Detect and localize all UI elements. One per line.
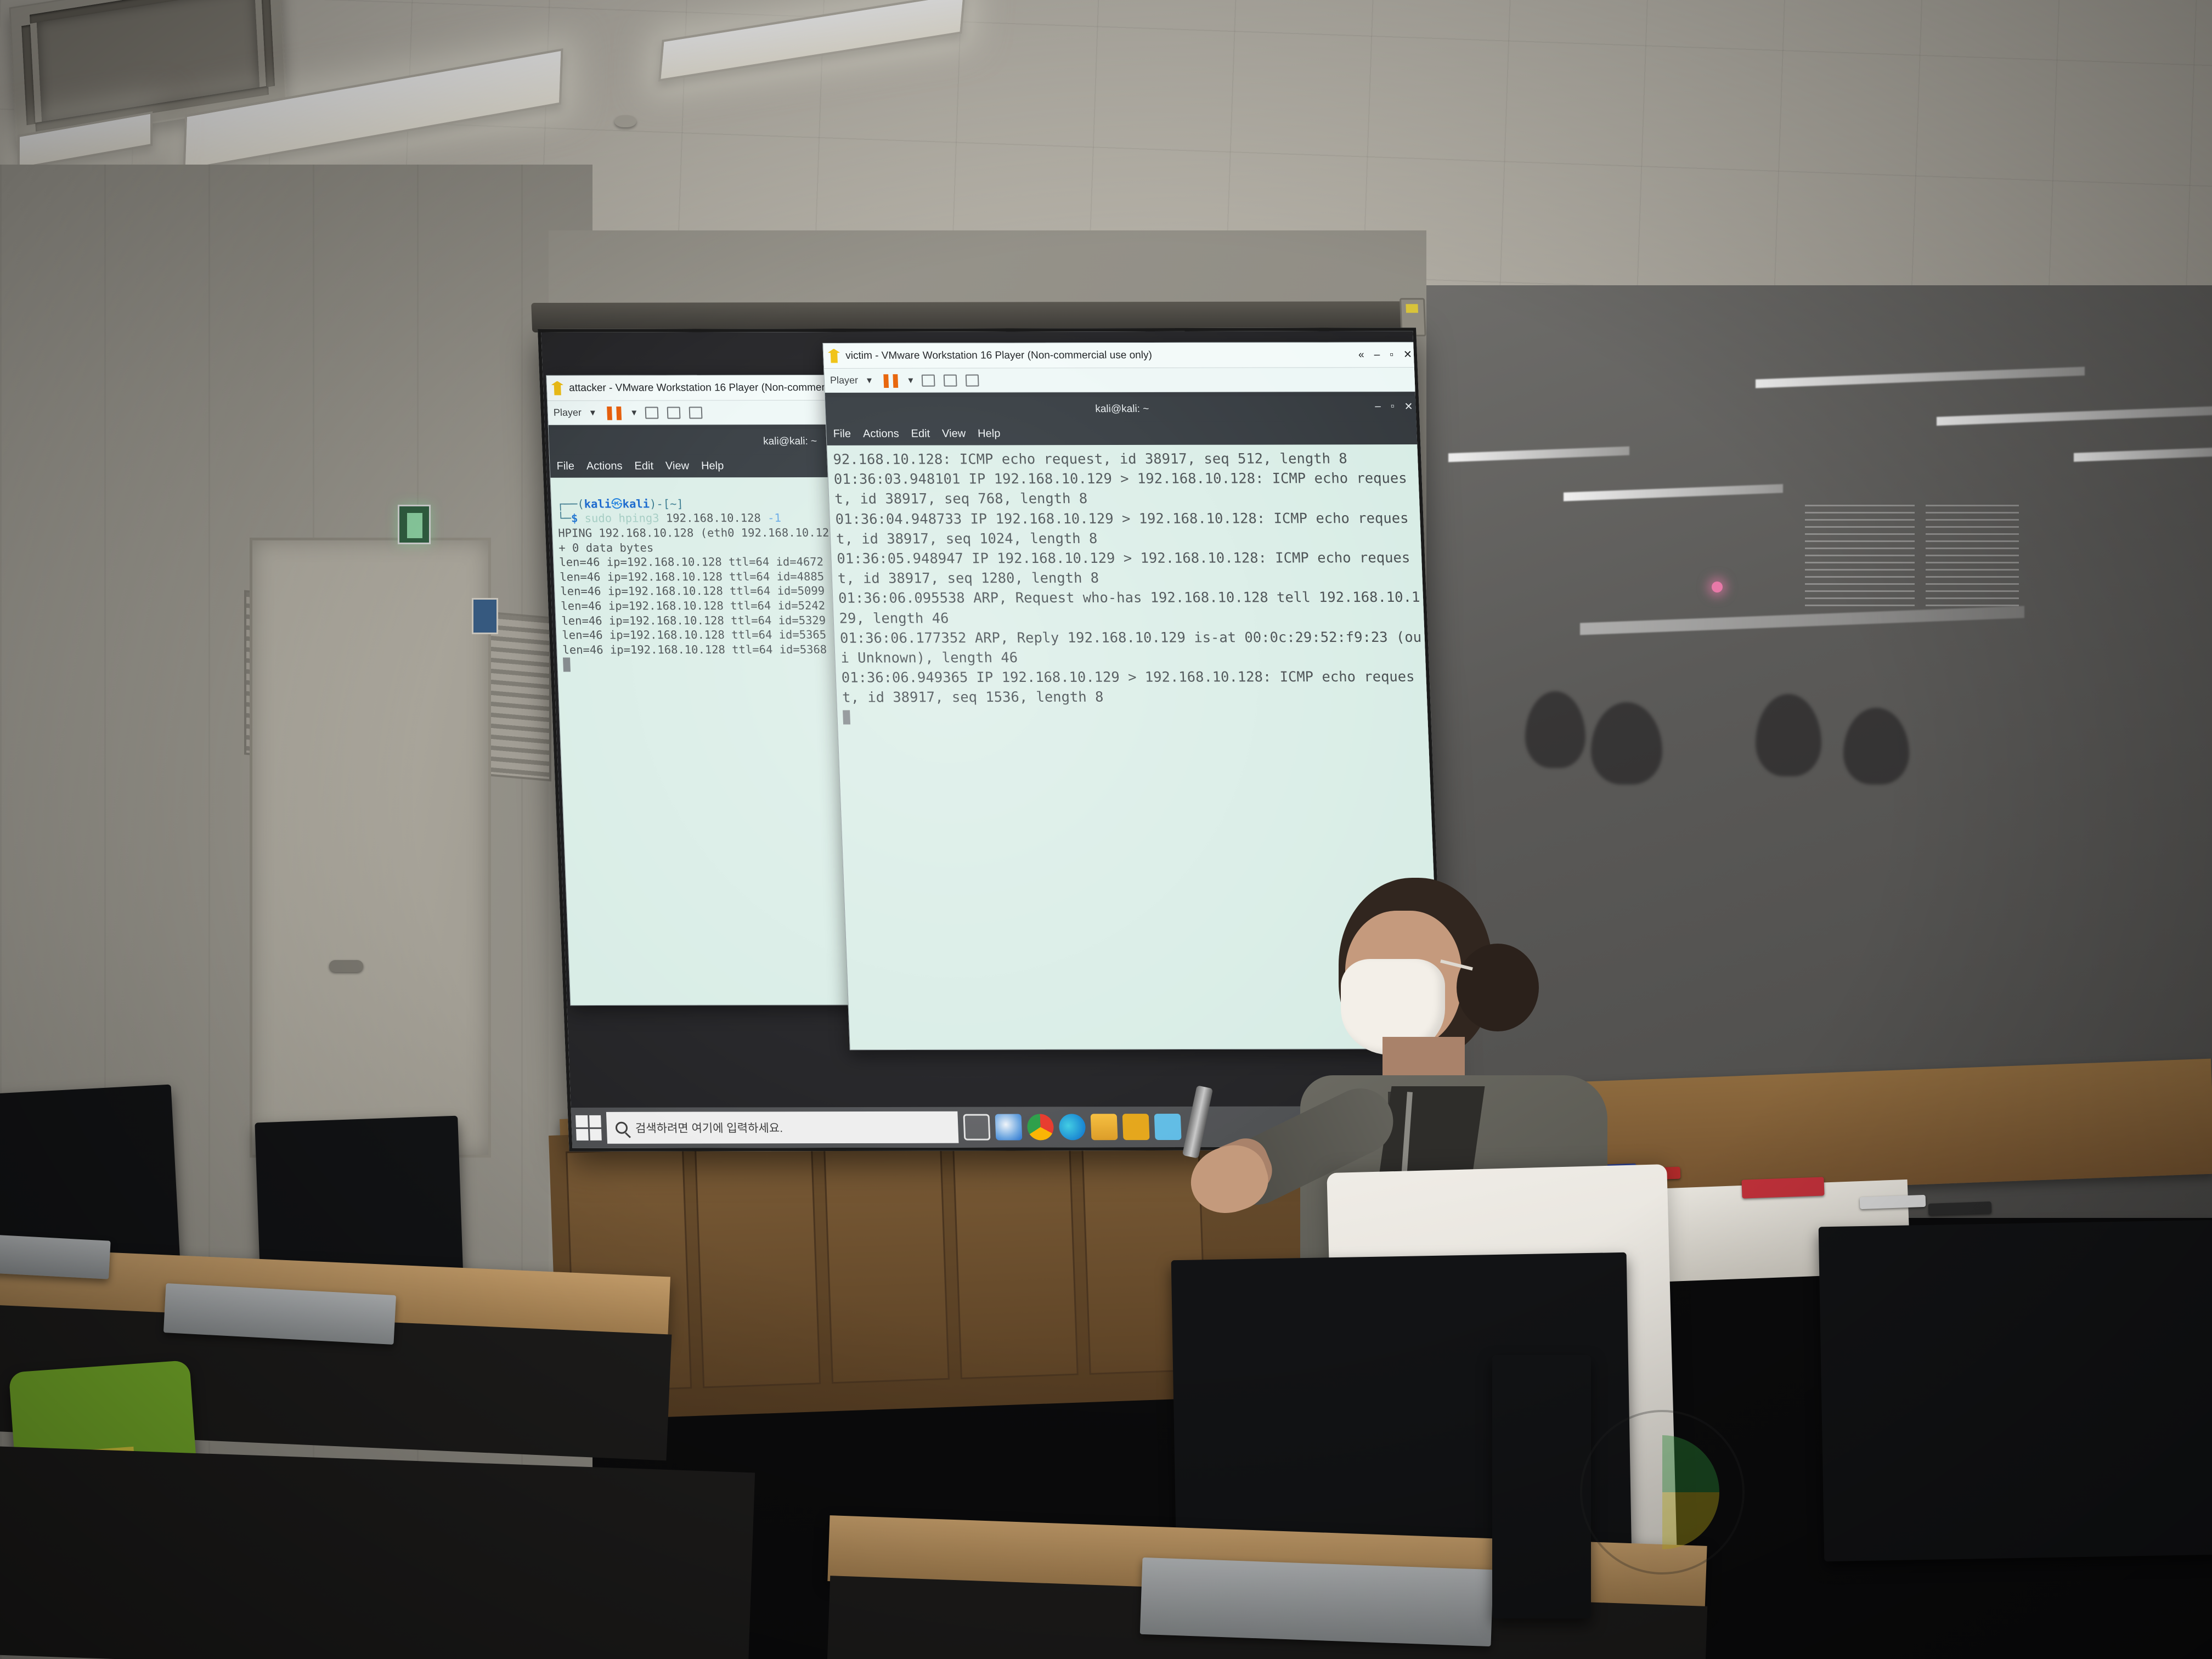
terminal-menubar-victim[interactable]: File Actions Edit View Help [826,421,1420,445]
tcpdump-line-4: 01:36:06.095538 ARP, Request who-has 192… [838,589,1420,627]
unity-mode-icon-victim[interactable] [966,374,979,386]
chrome-icon[interactable] [1027,1114,1054,1140]
vmware-icon-taskbar[interactable] [1122,1114,1150,1140]
tcpdump-line-2: 01:36:04.948733 IP 192.168.10.129 > 192.… [835,510,1409,548]
student-monitor-5 [1492,1355,1591,1618]
eraser[interactable] [1741,1177,1824,1198]
presenter-hair-bun [1457,944,1539,1031]
classroom-scene: attacker - VMware Workstation 16 Player … [0,0,2212,1659]
pause-icon[interactable]: ❚❚ [603,405,623,421]
menu-help-victim[interactable]: Help [978,427,1001,440]
terminal-title-attacker: kali@kali: ~ [763,436,817,448]
terminal-title-bar-victim[interactable]: kali@kali: ~ – ▫ ✕ [825,396,1419,422]
menu-file-victim[interactable]: File [833,427,851,440]
task-view-icon[interactable] [963,1114,990,1141]
network-adapter-icon-victim[interactable] [922,374,935,386]
terminal-maximize-button-victim[interactable]: ▫ [1390,400,1395,413]
vm-minimize-button-victim[interactable]: – [1374,349,1380,361]
vm-title-bar-victim[interactable]: victim - VMware Workstation 16 Player (N… [823,342,1417,369]
vm-maximize-button-victim[interactable]: ▫ [1390,349,1394,361]
menu-edit-victim[interactable]: Edit [911,427,930,440]
terminal-close-button-victim[interactable]: ✕ [1404,400,1413,413]
tcpdump-line-0: 92.168.10.128: ICMP echo request, id 389… [833,450,1347,468]
terminal-cursor-attacker [563,657,571,672]
store-icon[interactable] [1154,1114,1182,1140]
menu-file[interactable]: File [556,460,574,472]
command-target: 192.168.10.128 [665,511,761,524]
vmware-icon [551,381,564,395]
wall-placard [472,598,498,634]
vm-player-menu-attacker[interactable]: Player [553,407,582,419]
pause-icon-victim[interactable]: ❚❚ [881,373,900,388]
file-explorer-icon[interactable] [1091,1114,1118,1140]
chevron-down-icon-victim[interactable]: ▾ [867,375,872,386]
vm-close-button-victim[interactable]: ✕ [1403,348,1413,361]
menu-help[interactable]: Help [701,460,724,472]
fullscreen-icon[interactable] [667,407,681,419]
door-handle-icon[interactable] [329,960,363,972]
vmware-icon-victim [828,349,840,363]
menu-actions[interactable]: Actions [586,460,623,472]
tcpdump-line-1: 01:36:03.948101 IP 192.168.10.129 > 192.… [833,470,1407,507]
chevron-down-icon-victim2[interactable]: ▾ [908,375,913,386]
marker-dark[interactable] [1928,1201,1992,1216]
chevron-down-icon[interactable]: ▾ [590,407,596,419]
prompt-user: kali [584,497,611,510]
prompt-path: ~ [670,497,677,510]
chevron-down-icon-2[interactable]: ▾ [631,407,637,419]
menu-edit[interactable]: Edit [634,460,653,472]
vm-title-text-victim: victim - VMware Workstation 16 Player (N… [845,349,1152,362]
terminal-cursor-victim [843,710,850,724]
prompt-host: kali [622,497,650,510]
student-keyboard-3[interactable] [1140,1558,1493,1646]
fullscreen-icon-victim[interactable] [944,374,957,386]
marker-black[interactable] [1860,1195,1926,1209]
windows-search-input[interactable]: 검색하려면 여기에 입력하세요. [606,1111,959,1144]
command-tool: hping3 [618,512,659,525]
network-adapter-icon[interactable] [645,407,659,419]
menu-actions-victim[interactable]: Actions [863,427,900,440]
tcpdump-line-5: 01:36:06.177352 ARP, Reply 192.168.10.12… [839,629,1421,667]
unity-mode-icon[interactable] [689,407,703,419]
menu-view[interactable]: View [665,460,690,472]
internet-explorer-icon[interactable] [995,1114,1023,1141]
search-icon [616,1122,628,1134]
terminal-title-victim: kali@kali: ~ [1095,403,1149,415]
lab-door[interactable] [250,538,491,1158]
terminal-minimize-button-victim[interactable]: – [1375,400,1381,413]
menu-view-victim[interactable]: View [942,427,966,440]
tcpdump-line-6: 01:36:06.949365 IP 192.168.10.129 > 192.… [841,669,1415,706]
smoke-detector-icon [614,115,636,127]
student-desk-left-2 [0,1446,755,1659]
student-monitor-4 [1819,1220,2212,1561]
student-keyboard-1[interactable] [0,1233,111,1279]
exit-sign [398,505,431,544]
tcpdump-line-3: 01:36:05.948947 IP 192.168.10.129 > 192.… [837,550,1410,587]
command-flag: -1 [768,511,782,524]
command-sudo: sudo [584,512,612,525]
vm-collapse-icon-victim[interactable]: « [1358,349,1364,361]
windows-search-placeholder: 검색하려면 여기에 입력하세요. [635,1119,783,1136]
vm-toolbar-victim[interactable]: Player ▾ ❚❚ ▾ [824,368,1418,393]
laser-pointer-dot [1712,582,1723,592]
university-seal [1580,1410,1745,1575]
windows-start-icon[interactable] [575,1115,602,1141]
edge-icon[interactable] [1059,1114,1086,1140]
vm-player-menu-victim[interactable]: Player [830,375,859,386]
